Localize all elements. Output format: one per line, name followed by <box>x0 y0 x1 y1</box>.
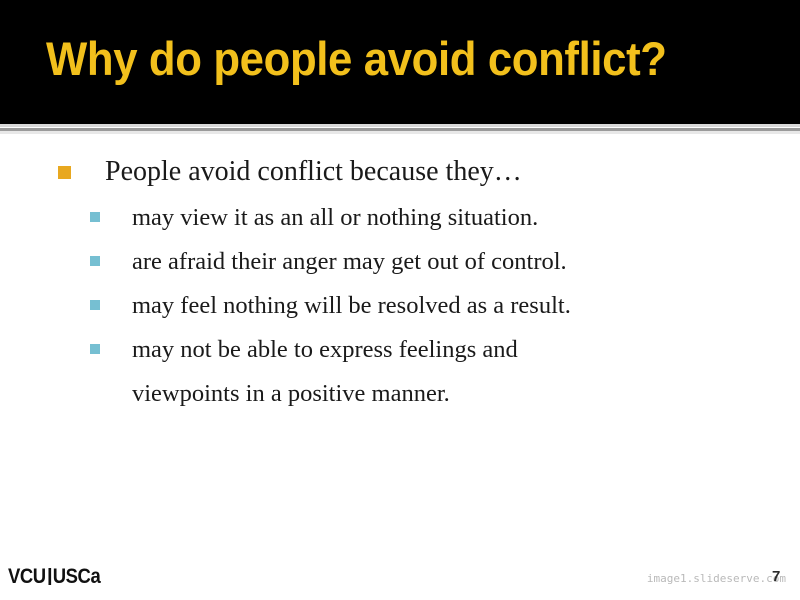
square-bullet-blue-icon <box>90 256 100 266</box>
bullet-level2-item-4: may not be able to express feelings and … <box>0 328 800 416</box>
square-bullet-blue-icon <box>90 300 100 310</box>
divider-fade <box>0 131 800 134</box>
square-bullet-gold-icon <box>58 166 71 179</box>
bullet-level2-line1: may not be able to express feelings and <box>132 328 800 372</box>
title-band: Why do people avoid conflict? <box>0 0 800 124</box>
slide-canvas: Why do people avoid conflict? People avo… <box>0 0 800 600</box>
logo-text-usca: USCa <box>53 565 101 588</box>
bullet-level2-line2: viewpoints in a positive manner. <box>132 372 800 416</box>
square-bullet-blue-icon <box>90 212 100 222</box>
bullet-level2-label: may feel nothing will be resolved as a r… <box>132 292 571 319</box>
page-title: Why do people avoid conflict? <box>46 26 716 92</box>
bullet-level2-item-1: may view it as an all or nothing situati… <box>0 196 800 240</box>
title-divider <box>0 124 800 134</box>
bullet-level2-item-3: may feel nothing will be resolved as a r… <box>0 284 800 328</box>
slide-body: People avoid conflict because they… may … <box>0 150 800 416</box>
bullet-level1: People avoid conflict because they… <box>0 150 800 194</box>
watermark-text: image1.slideserve.com <box>647 572 786 585</box>
logo-separator-bar <box>48 568 51 585</box>
bullet-level2-item-2: are afraid their anger may get out of co… <box>0 240 800 284</box>
vcu-usca-logo: VCUUSCa <box>8 566 100 587</box>
logo-text-vcu: VCU <box>8 565 46 588</box>
bullet-level2-label: may view it as an all or nothing situati… <box>132 204 538 231</box>
bullet-level1-label: People avoid conflict because they… <box>105 156 522 187</box>
bullet-level2-label: are afraid their anger may get out of co… <box>132 248 567 275</box>
square-bullet-blue-icon <box>90 344 100 354</box>
bullet-level2-label: may not be able to express feelings and … <box>132 328 800 416</box>
divider-gap <box>0 124 800 127</box>
slide-number: 7 <box>772 568 780 585</box>
